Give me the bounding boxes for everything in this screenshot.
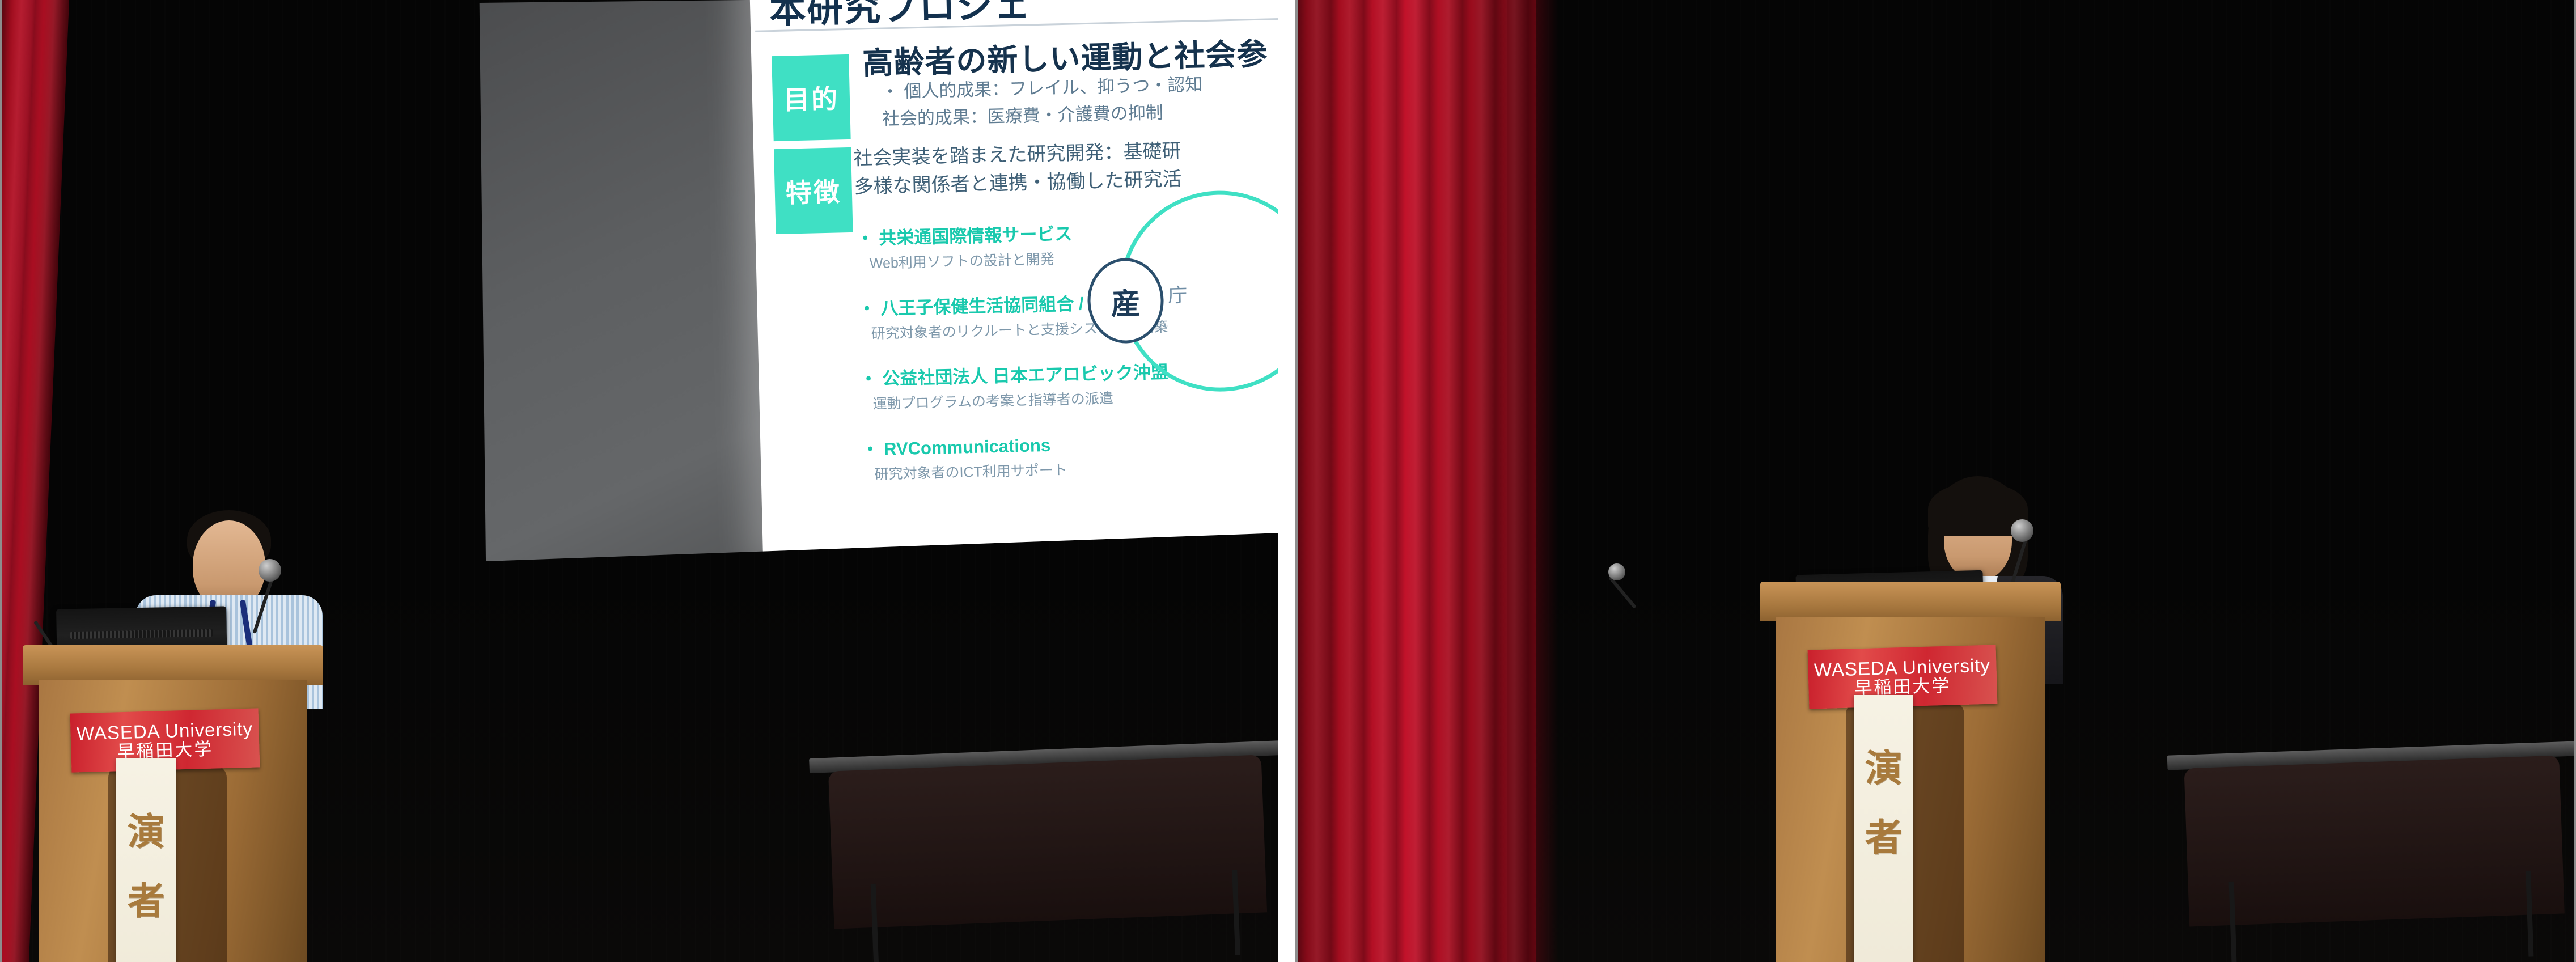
plate-japanese-label: 早稲田大学 (117, 740, 214, 761)
speaker-banner: 演 者 (116, 758, 175, 962)
table-skirt (2184, 756, 2565, 927)
podium: WASEDA University 早稲田大学 演 者 (23, 645, 323, 962)
screenshot-root: 本研究プロジェ 目的 特徴 高齢者の新しい運動と社会参 ・ 個人的成果：フレイル… (0, 0, 2576, 962)
table-skirt (828, 755, 1267, 929)
podium: WASEDA University 早稲田大学 演 者 (1760, 582, 2061, 962)
banner-char-1: 演 (1865, 749, 1903, 787)
podium-top (23, 645, 323, 685)
stage-table (809, 740, 1278, 962)
red-stage-curtain (1298, 0, 1536, 962)
plate-japanese-label: 早稲田大学 (1854, 677, 1951, 697)
banner-char-1: 演 (128, 813, 165, 850)
banner-char-2: 者 (1865, 819, 1903, 856)
banner-char-2: 者 (128, 882, 165, 919)
panel-gutter (1278, 0, 1298, 962)
microphone-head (2011, 519, 2033, 542)
podium-top (1760, 582, 2061, 621)
microphone-head (1608, 563, 1625, 580)
plate-english-label: WASEDA University (1814, 656, 1990, 680)
plate-english-label: WASEDA University (76, 719, 253, 743)
left-presentation-photo: 本研究プロジェ 目的 特徴 高齢者の新しい運動と社会参 ・ 個人的成果：フレイル… (2, 0, 1278, 962)
speaker-banner: 演 者 (1854, 695, 1913, 962)
microphone-head (259, 559, 281, 582)
list-item: ・ RVCommunications 研究対象者のICT利用サポート (861, 426, 1259, 484)
projection-screen: 本研究プロジェ 目的 特徴 高齢者の新しい運動と社会参 ・ 個人的成果：フレイル… (476, 0, 1278, 561)
stage-table (2167, 741, 2574, 962)
podium-body: WASEDA University 早稲田大学 演 者 (39, 680, 307, 962)
slide-tag-purpose: 目的 (772, 54, 850, 141)
right-presentation-photo: 2020年度 研究Ⅰ オンライン運動教室 運用可能性の検証 高齢者でも楽しんで … (1298, 0, 2574, 962)
slide-tag-feature: 特徴 (774, 147, 853, 234)
projected-slide-left: 本研究プロジェ 目的 特徴 高齢者の新しい運動と社会参 ・ 個人的成果：フレイル… (749, 0, 1278, 552)
podium-body: WASEDA University 早稲田大学 演 者 (1776, 617, 2045, 962)
venn-side-label: 庁 (1168, 279, 1188, 308)
